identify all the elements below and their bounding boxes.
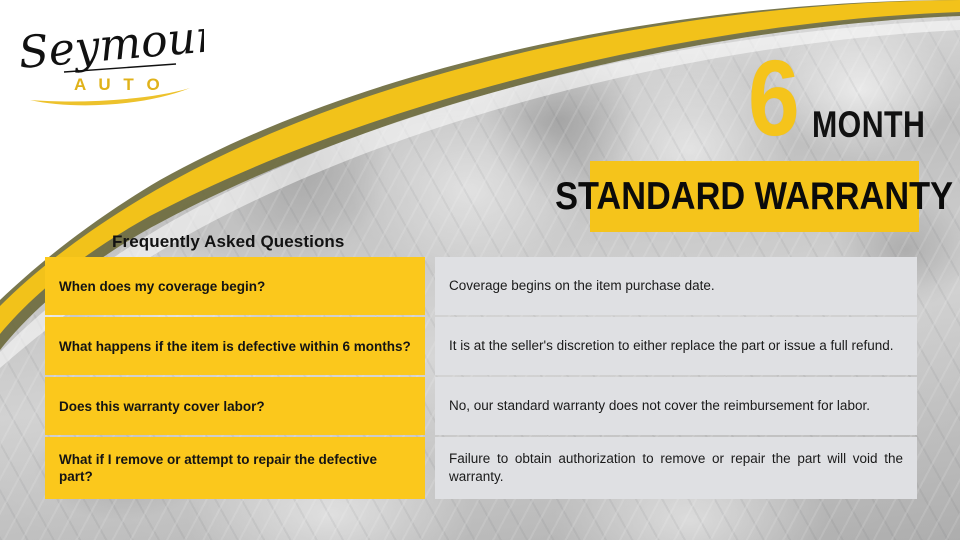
faq-question-text: When does my coverage begin? bbox=[59, 278, 265, 295]
faq-answer-text: No, our standard warranty does not cover… bbox=[449, 397, 903, 415]
faq-question-text: Does this warranty cover labor? bbox=[59, 398, 265, 415]
faq-answer-cell: Coverage begins on the item purchase dat… bbox=[435, 257, 917, 315]
faq-question-cell: What if I remove or attempt to repair th… bbox=[45, 437, 425, 499]
logo-subwordmark: A U T O bbox=[74, 75, 164, 94]
standard-warranty-banner: STANDARD WARRANTY bbox=[590, 161, 919, 232]
faq-answer-text: Coverage begins on the item purchase dat… bbox=[449, 277, 903, 295]
faq-question-text: What happens if the item is defective wi… bbox=[59, 338, 411, 355]
faq-answer-cell: No, our standard warranty does not cover… bbox=[435, 377, 917, 435]
faq-answer-text: Failure to obtain authorization to remov… bbox=[449, 450, 903, 486]
faq-question-cell: Does this warranty cover labor? bbox=[45, 377, 425, 435]
faq-question-cell: What happens if the item is defective wi… bbox=[45, 317, 425, 375]
warranty-duration-unit: MONTH bbox=[812, 106, 925, 143]
table-row: Does this warranty cover labor? No, our … bbox=[45, 377, 917, 435]
table-row: What if I remove or attempt to repair th… bbox=[45, 437, 917, 499]
faq-question-text: What if I remove or attempt to repair th… bbox=[59, 451, 411, 485]
seymour-auto-logo: Seymour A U T O bbox=[14, 14, 204, 106]
faq-answer-cell: Failure to obtain authorization to remov… bbox=[435, 437, 917, 499]
warranty-duration-number: 6 bbox=[748, 44, 798, 152]
faq-heading: Frequently Asked Questions bbox=[112, 232, 344, 252]
warranty-slide: Seymour A U T O 6 MONTH STANDARD WARRANT… bbox=[0, 0, 960, 540]
faq-table: When does my coverage begin? Coverage be… bbox=[45, 257, 917, 499]
faq-answer-cell: It is at the seller's discretion to eith… bbox=[435, 317, 917, 375]
faq-answer-text: It is at the seller's discretion to eith… bbox=[449, 337, 903, 355]
faq-question-cell: When does my coverage begin? bbox=[45, 257, 425, 315]
standard-warranty-label: STANDARD WARRANTY bbox=[556, 175, 954, 219]
table-row: What happens if the item is defective wi… bbox=[45, 317, 917, 375]
table-row: When does my coverage begin? Coverage be… bbox=[45, 257, 917, 315]
